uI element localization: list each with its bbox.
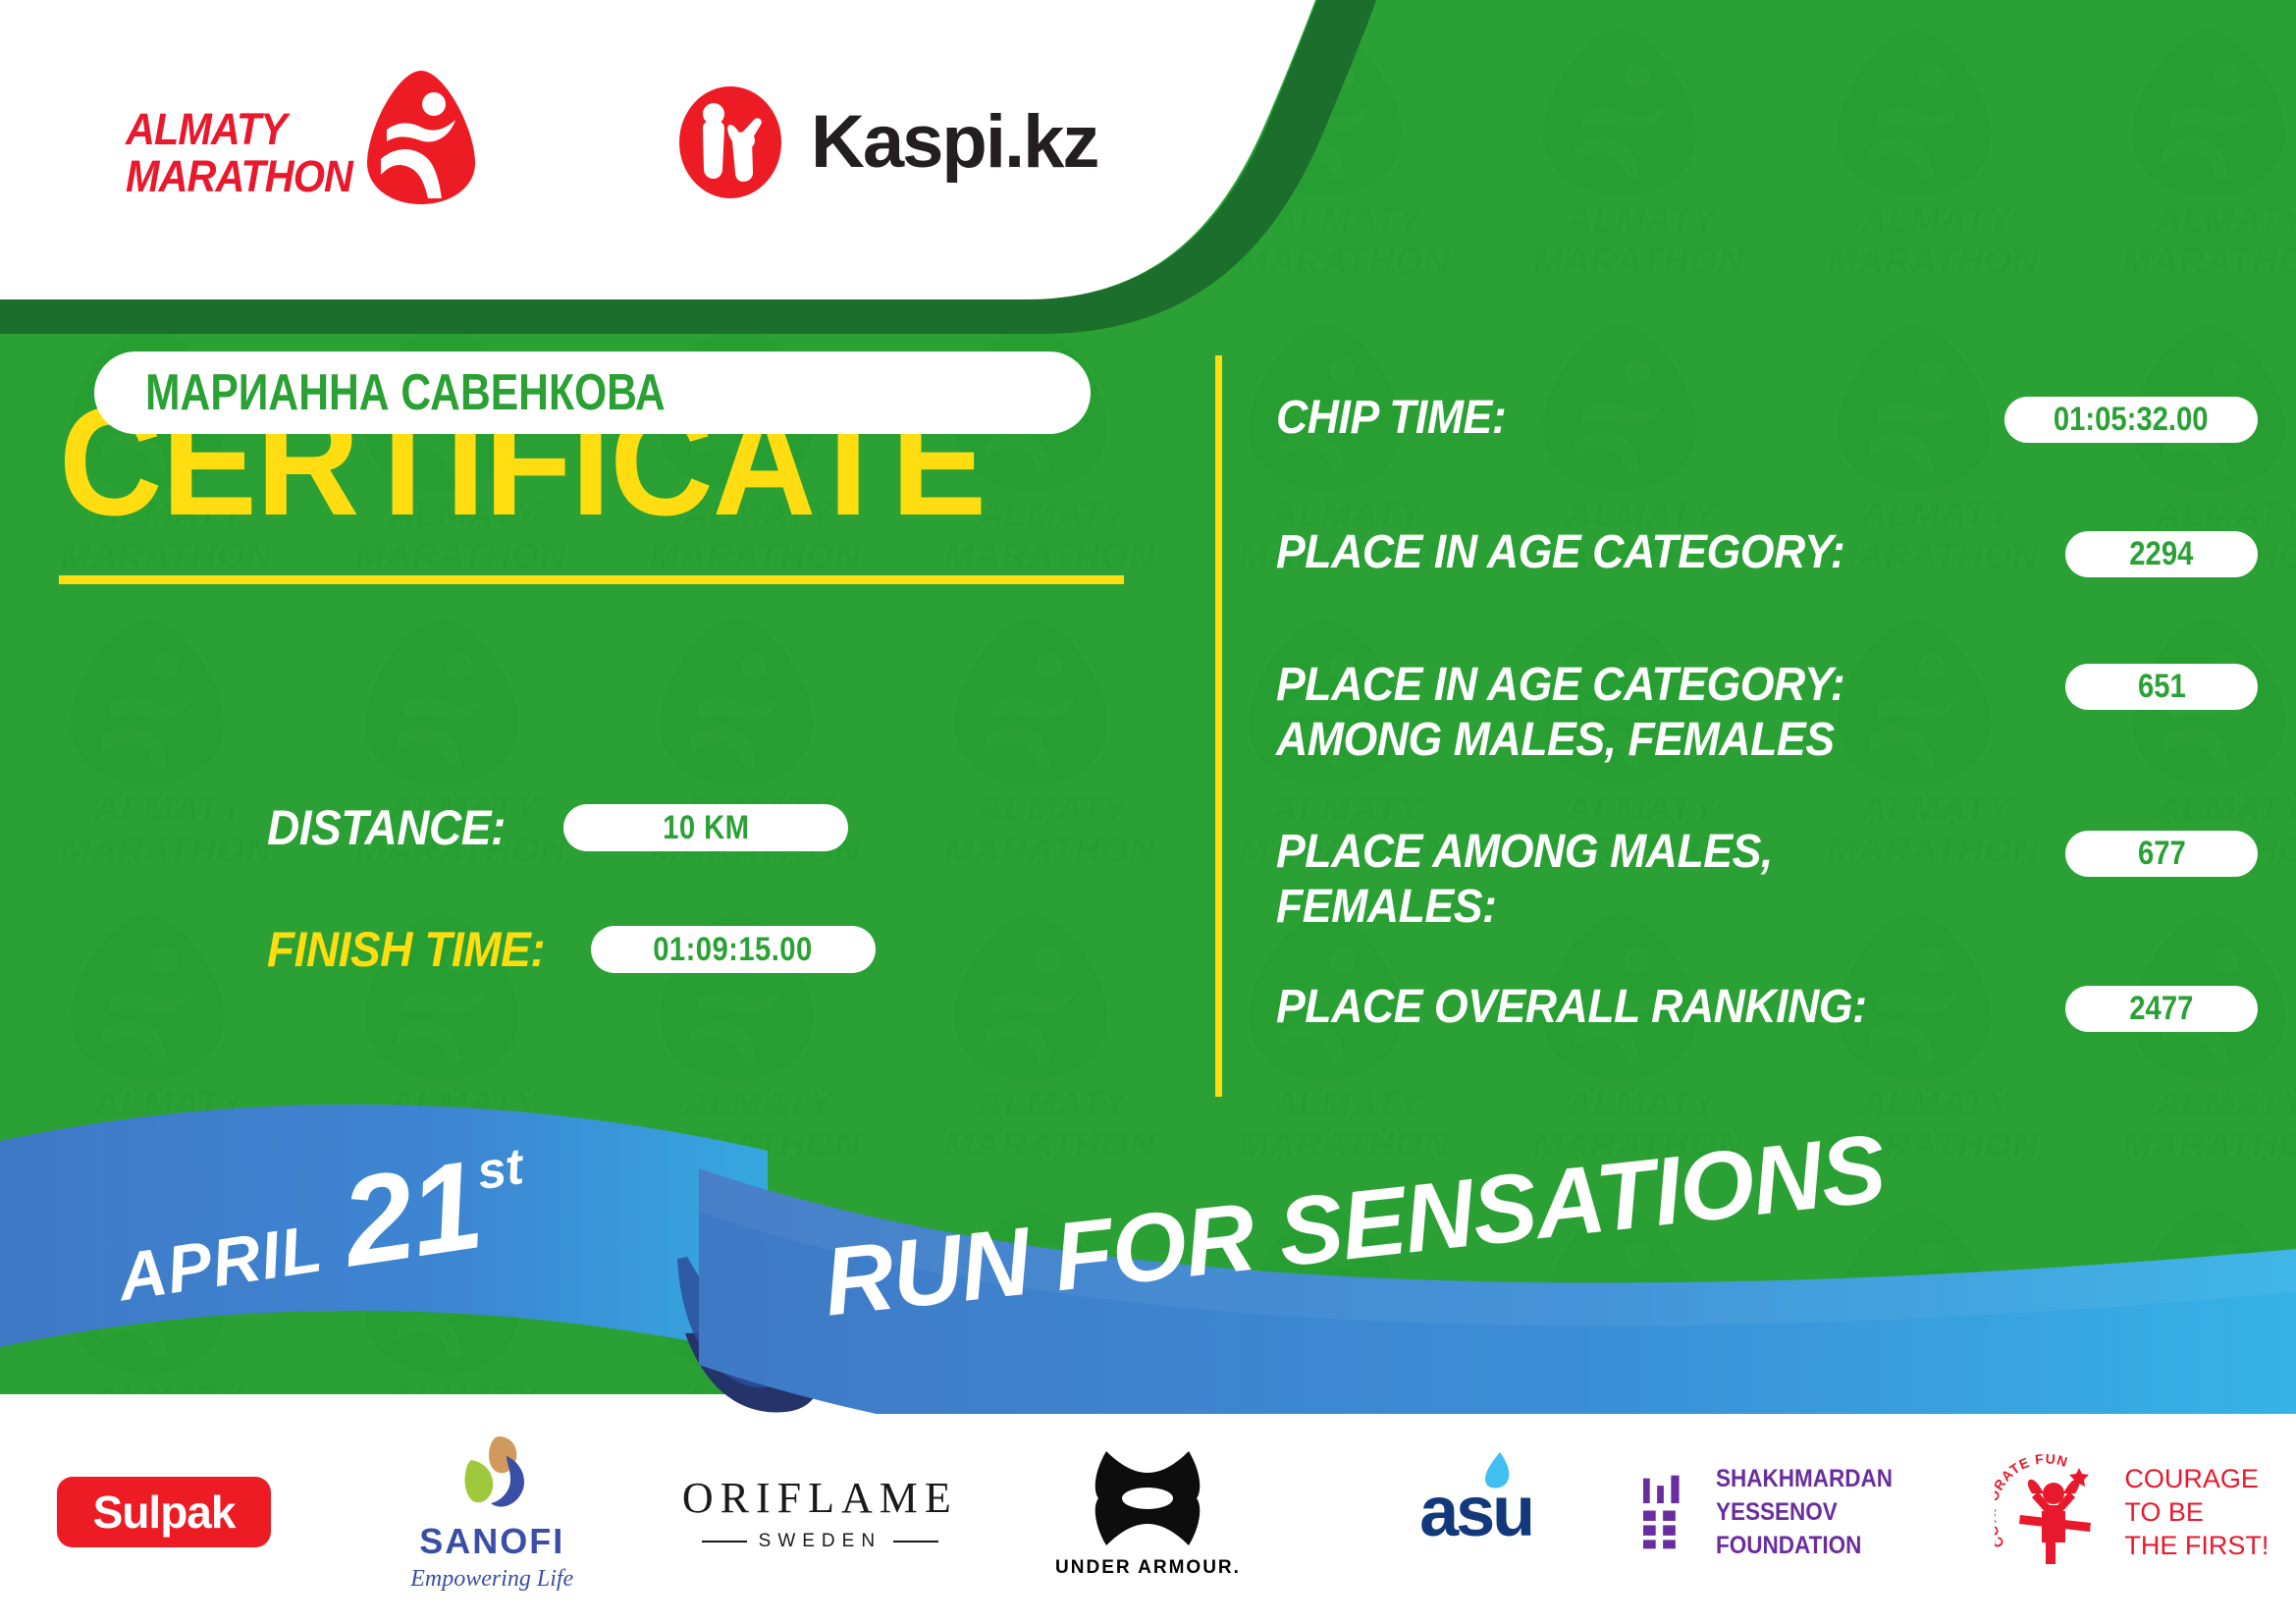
almaty-marathon-logo: ALMATY MARATHON bbox=[126, 69, 450, 216]
stat-row: PLACE AMONG MALES, FEMALES: 677 bbox=[1276, 825, 2258, 935]
asu-wordmark: asu bbox=[1419, 1472, 1532, 1552]
almaty-logo-line1: ALMATY bbox=[126, 104, 287, 154]
distance-label: DISTANCE: bbox=[267, 799, 506, 856]
stat-value: 01:05:32.00 bbox=[2054, 401, 2209, 439]
kaspi-logo: Kaspi.kz bbox=[677, 79, 1097, 206]
stat-value-pill: 2477 bbox=[2065, 986, 2258, 1032]
stat-label: PLACE OVERALL RANKING: bbox=[1276, 980, 2010, 1035]
stat-row: PLACE IN AGE CATEGORY: AMONG MALES, FEMA… bbox=[1276, 658, 2258, 768]
oriflame-sweden-text: SWEDEN bbox=[759, 1531, 881, 1552]
event-day-suffix: st bbox=[473, 1137, 527, 1202]
sponsor-sulpak: Sulpak bbox=[0, 1438, 328, 1586]
distance-row: DISTANCE: 10 KM bbox=[267, 799, 848, 856]
under-armour-icon bbox=[1077, 1445, 1218, 1551]
stat-value-pill: 01:05:32.00 bbox=[2004, 397, 2258, 443]
sanofi-wordmark: SANOFI bbox=[410, 1521, 573, 1562]
stat-value-pill: 677 bbox=[2065, 831, 2258, 877]
stat-label: PLACE IN AGE CATEGORY: bbox=[1276, 525, 2010, 580]
courage-fund-wordmark: COURAGE TO BE THE FIRST! bbox=[2124, 1462, 2269, 1562]
finish-time-value: 01:09:15.00 bbox=[654, 931, 813, 969]
participant-name: МАРИАННА САВЕНКОВА bbox=[145, 363, 666, 422]
sulpak-logo: Sulpak bbox=[57, 1477, 271, 1547]
kaspi-wordmark: Kaspi.kz bbox=[811, 105, 1097, 180]
distance-value: 10 KM bbox=[663, 809, 749, 847]
participant-name-pill: МАРИАННА САВЕНКОВА bbox=[94, 352, 1091, 434]
certificate-page: ALMATY MARATHON ALMATY MARATHON bbox=[0, 0, 2296, 1624]
stat-value-pill: 651 bbox=[2065, 664, 2258, 710]
kaspi-people-circle-icon bbox=[677, 84, 783, 200]
finish-time-row: FINISH TIME: 01:09:15.00 bbox=[267, 921, 876, 978]
distance-value-pill: 10 KM bbox=[563, 804, 848, 851]
oriflame-sub: SWEDEN bbox=[682, 1531, 958, 1552]
stat-row: PLACE IN AGE CATEGORY: 2294 bbox=[1276, 525, 2258, 580]
event-month: APRIL bbox=[113, 1210, 327, 1316]
courage-fund-icon: CORPORATE FUND bbox=[1995, 1454, 2110, 1570]
stat-value: 2477 bbox=[2129, 990, 2193, 1028]
yessenov-mark-icon bbox=[1640, 1463, 1694, 1561]
stat-label: CHIP TIME: bbox=[1276, 391, 1953, 446]
sanofi-mark-icon bbox=[450, 1433, 534, 1515]
sanofi-tagline: Empowering Life bbox=[410, 1566, 573, 1593]
sponsor-under-armour: UNDER ARMOUR. bbox=[984, 1438, 1311, 1586]
oriflame-rule-right bbox=[893, 1541, 938, 1543]
finish-time-label: FINISH TIME: bbox=[267, 921, 545, 978]
oriflame-rule-left bbox=[702, 1541, 747, 1543]
oriflame-wordmark: ORIFLAME bbox=[682, 1473, 958, 1523]
stat-row: PLACE OVERALL RANKING: 2477 bbox=[1276, 980, 2258, 1035]
yessenov-wordmark: SHAKHMARDAN YESSENOV FOUNDATION bbox=[1716, 1462, 1943, 1562]
finish-time-value-pill: 01:09:15.00 bbox=[591, 926, 876, 973]
stat-value: 651 bbox=[2138, 668, 2186, 706]
almaty-logo-line2: MARATHON bbox=[126, 153, 368, 200]
event-day: 21 bbox=[334, 1133, 490, 1296]
stat-row: CHIP TIME: 01:05:32.00 bbox=[1276, 391, 2258, 446]
sponsor-courage-fund: CORPORATE FUND COURAGE TO BE THE FIRST! bbox=[1968, 1438, 2296, 1586]
sponsor-asu: asu bbox=[1312, 1438, 1640, 1586]
stat-value: 677 bbox=[2138, 835, 2186, 873]
under-armour-wordmark: UNDER ARMOUR. bbox=[1055, 1557, 1241, 1579]
vertical-divider bbox=[1215, 355, 1222, 1097]
sponsor-strip: Sulpak SANOFI Empowering Life ORIFLAME S… bbox=[0, 1424, 2296, 1600]
stat-value: 2294 bbox=[2129, 535, 2193, 573]
runner-drop-icon bbox=[363, 69, 479, 206]
sponsor-sanofi: SANOFI Empowering Life bbox=[328, 1438, 656, 1586]
almaty-marathon-wordmark: ALMATY MARATHON bbox=[126, 106, 368, 200]
stat-label: PLACE IN AGE CATEGORY: AMONG MALES, FEMA… bbox=[1276, 658, 2010, 768]
stat-label: PLACE AMONG MALES, FEMALES: bbox=[1276, 825, 2010, 935]
sponsor-yessenov-foundation: SHAKHMARDAN YESSENOV FOUNDATION bbox=[1640, 1438, 1968, 1586]
sponsor-oriflame: ORIFLAME SWEDEN bbox=[656, 1438, 984, 1586]
stat-value-pill: 2294 bbox=[2065, 531, 2258, 577]
title-underline bbox=[59, 575, 1124, 584]
